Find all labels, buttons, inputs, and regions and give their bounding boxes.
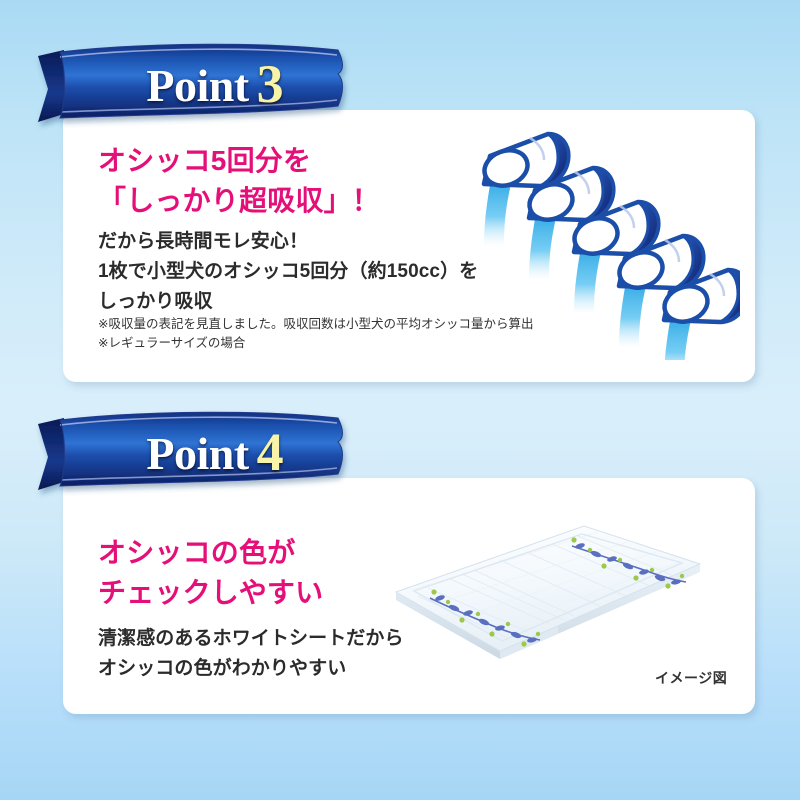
advertisement-page: Point 3 オシッコ5回分を 「しっかり超吸収」！ だから長時間モレ安心！ … [0,0,800,800]
point3-footnotes: ※吸収量の表記を見直しました。吸収回数は小型犬の平均オシッコ量から算出 ※レギュ… [98,315,533,353]
point3-headline: オシッコ5回分を 「しっかり超吸収」！ [98,141,380,221]
point4-headline: オシッコの色が チェックしやすい [98,533,323,613]
white-pet-sheet-illustration [388,512,708,687]
point4-ribbon-banner: Point 4 [38,416,368,490]
five-absorption-rings-illustration [470,110,740,360]
point3-body-text: だから長時間モレ安心！ 1枚で小型犬のオシッコ5回分（約150cc）を しっかり… [98,227,478,317]
point4-body-text: 清潔感のあるホワイトシートだから オシッコの色がわかりやすい [98,624,404,684]
point3-ribbon-banner: Point 3 [38,48,368,122]
